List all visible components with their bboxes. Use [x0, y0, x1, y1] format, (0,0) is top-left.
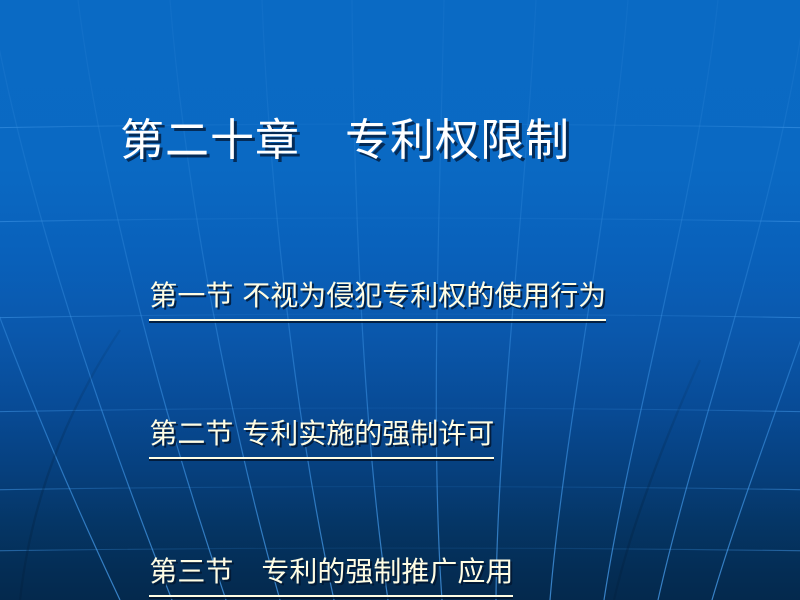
page-title: 第二十章 专利权限制	[120, 112, 570, 170]
section-link-1-label: 第一节 不视为侵犯专利权的使用行为	[149, 273, 606, 321]
section-link-1[interactable]: 第一节 不视为侵犯专利权的使用行为	[96, 228, 606, 366]
section-list: 第一节 不视为侵犯专利权的使用行为 第二节 专利实施的强制许可 第三节 专利的强…	[0, 228, 800, 600]
section-link-3-label: 第三节 专利的强制推广应用	[149, 549, 513, 597]
section-link-3[interactable]: 第三节 专利的强制推广应用	[96, 504, 513, 600]
section-link-2[interactable]: 第二节 专利实施的强制许可	[96, 366, 494, 504]
slide-title-block: 第二十章 专利权限制	[0, 112, 800, 170]
section-link-2-label: 第二节 专利实施的强制许可	[149, 411, 494, 459]
slide-canvas: 第二十章 专利权限制 第一节 不视为侵犯专利权的使用行为 第二节 专利实施的强制…	[0, 0, 800, 600]
